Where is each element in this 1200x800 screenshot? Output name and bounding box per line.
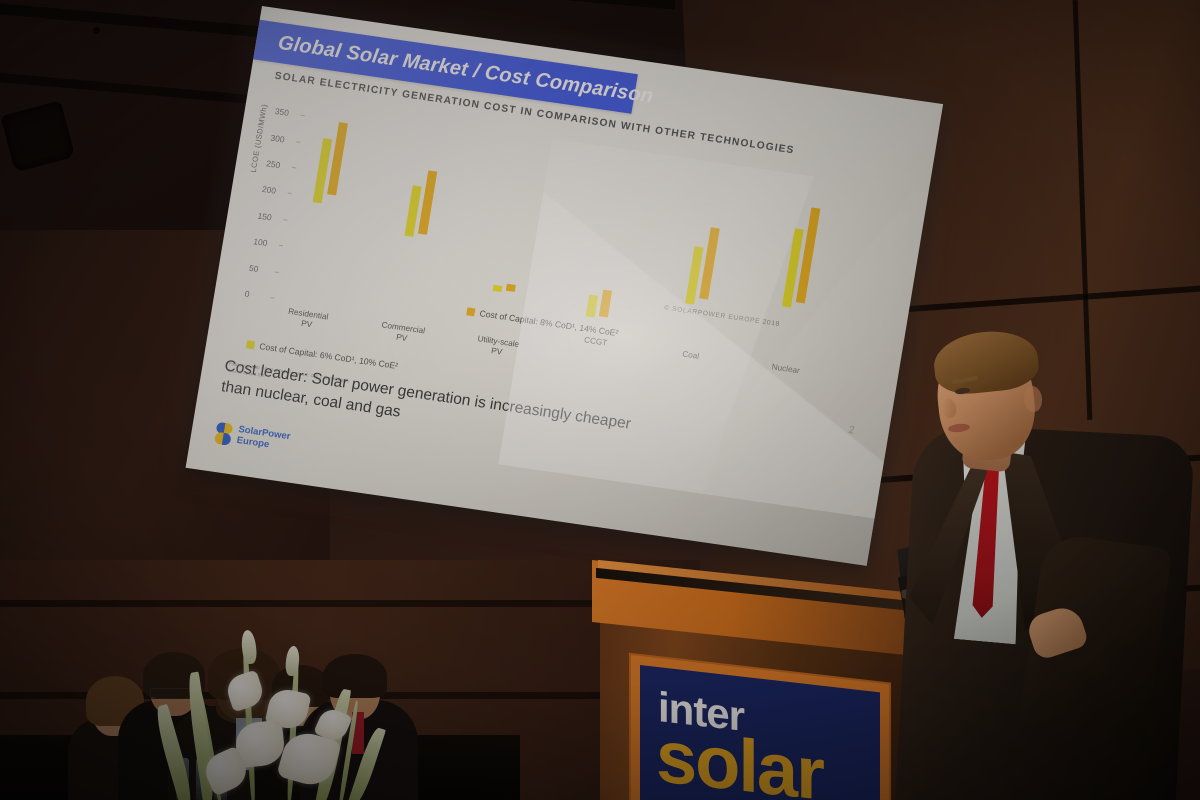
conference-photo-scene: Global Solar Market / Cost Comparison SO… (0, 0, 1200, 800)
chart-bar (699, 227, 720, 299)
chart-bar (506, 283, 516, 292)
y-axis-tick-label: 300 (270, 132, 285, 144)
ceiling-loudspeaker (0, 100, 75, 172)
intersolar-word-solar: solar (656, 719, 823, 800)
chart-bar (493, 285, 503, 293)
flower-arrangement (150, 630, 480, 800)
legend-swatch-icon (246, 340, 255, 349)
y-axis-tick-label: 250 (266, 158, 281, 170)
solarpower-europe-mark-icon (214, 422, 234, 446)
y-axis-tick-label: 350 (274, 106, 289, 118)
chart-bar (586, 295, 599, 318)
x-axis-category-label: Coal (654, 346, 727, 366)
y-axis-tick-label: 100 (253, 236, 268, 248)
chart-plot-area: ResidentialPVCommercialPVUtility-scalePV… (283, 103, 897, 382)
y-axis-tick-label: 200 (261, 184, 276, 196)
chart-bar (599, 289, 612, 317)
chart-bar (327, 122, 348, 195)
y-axis-tick-label: 150 (257, 210, 272, 222)
y-axis-tick-label: 0 (244, 288, 250, 299)
chart-bar (796, 208, 821, 304)
presentation-slide: Global Solar Market / Cost Comparison SO… (186, 6, 944, 566)
logo-text: SolarPower Europe (236, 425, 291, 453)
x-axis-category-label: CommercialPV (365, 318, 440, 348)
x-axis-category-label: ResidentialPV (270, 305, 345, 335)
y-axis-tick-label: 50 (248, 262, 259, 273)
x-axis-category-label: Nuclear (749, 359, 822, 379)
solarpower-europe-logo: SolarPower Europe (214, 422, 291, 454)
slide-page-number: 2 (848, 424, 856, 437)
legend-swatch-icon (466, 307, 475, 316)
chart-bar (418, 171, 437, 235)
ceiling-beam (0, 0, 676, 10)
x-axis-category-label: Utility-scalePV (460, 332, 535, 362)
ceiling-light-fixture (92, 26, 100, 34)
lcoe-cost-comparison-chart: LCOE (USD/MWh) 050100150200250300350 Res… (236, 97, 897, 414)
